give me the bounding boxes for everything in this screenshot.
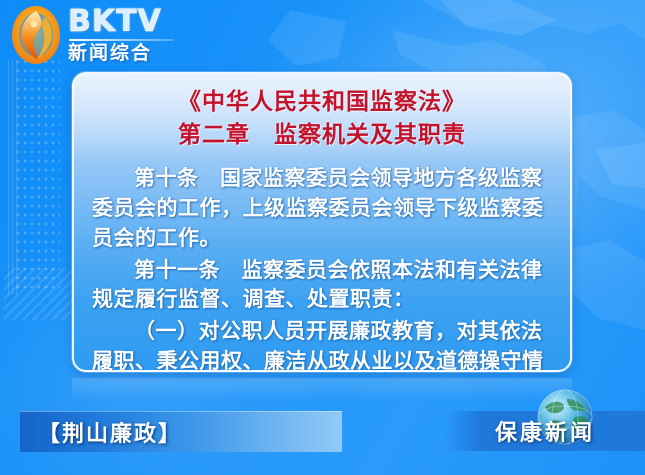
station-channel-name: 新闻综合: [68, 44, 173, 63]
decorative-dot-texture: [16, 60, 60, 295]
phoenix-flame-icon: [6, 4, 66, 66]
logo-divider: [69, 39, 173, 41]
article-paragraph: （一）对公职人员开展廉政教育，对其依法履职、秉公用权、廉洁从政从业以及道德操守情…: [92, 317, 552, 372]
program-label: 保康新闻: [495, 415, 595, 447]
law-body: 第十条 国家监察委员会领导地方各级监察委员会的工作，上级监察委员会领导下级监察委…: [92, 164, 552, 372]
panel-base-shadow: [72, 378, 572, 400]
topic-banner: 【荆山廉政】: [20, 411, 342, 452]
topic-label: 【荆山廉政】: [38, 416, 182, 448]
article-paragraph: 第十条 国家监察委员会领导地方各级监察委员会的工作，上级监察委员会领导下级监察委…: [92, 164, 552, 253]
station-logo: BKTV 新闻综合: [6, 2, 206, 68]
station-callsign: BKTV: [68, 7, 173, 37]
broadcast-frame: BKTV 新闻综合 《中华人民共和国监察法》 第二章 监察机关及其职责 第十条 …: [0, 0, 645, 475]
chapter-title: 第二章 监察机关及其职责: [92, 120, 552, 151]
content-panel: 《中华人民共和国监察法》 第二章 监察机关及其职责 第十条 国家监察委员会领导地…: [72, 72, 572, 372]
law-title: 《中华人民共和国监察法》: [92, 87, 552, 118]
program-banner: 保康新闻: [445, 411, 645, 451]
article-paragraph: 第十一条 监察委员会依照本法和有关法律规定履行监督、调查、处置职责：: [92, 256, 552, 316]
